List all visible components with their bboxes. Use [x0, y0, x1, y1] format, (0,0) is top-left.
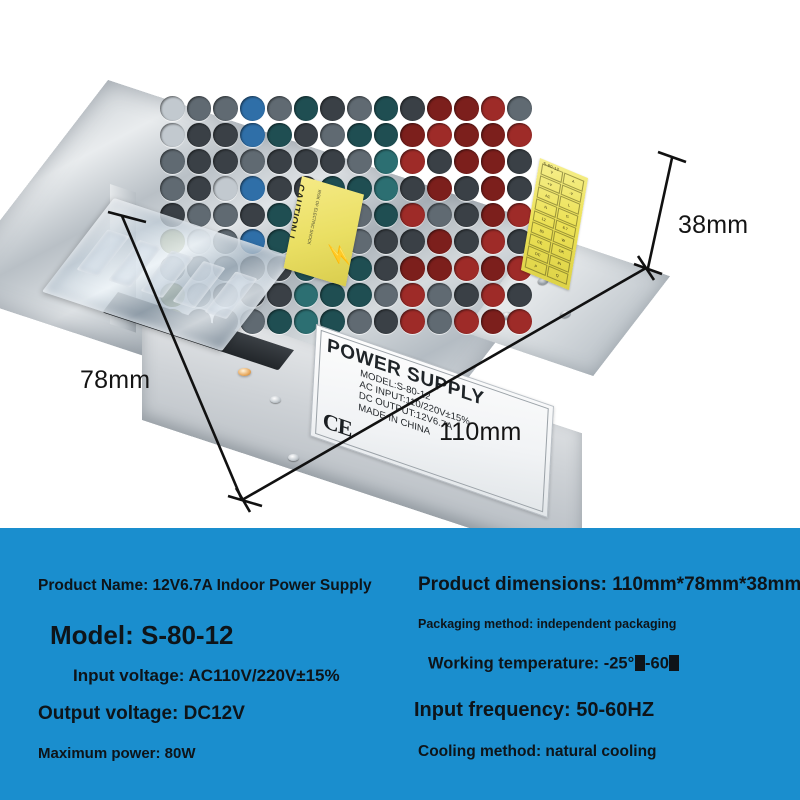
ventilation-hole [187, 123, 212, 148]
ventilation-hole [187, 149, 212, 174]
product-spec-image: POWER SUPPLY MODEL:S-80-12 AC INPUT:110/… [0, 0, 800, 800]
ventilation-hole [267, 309, 292, 334]
spec-packaging-method: Packaging method: independent packaging [418, 618, 676, 631]
ventilation-hole [481, 123, 506, 148]
ventilation-hole [427, 96, 452, 121]
ventilation-hole [320, 123, 345, 148]
caution-subtext: RISK OF ELECTRIC SHOCK [305, 189, 322, 246]
spec-cooling-method: Cooling method: natural cooling [418, 744, 657, 760]
ventilation-hole [400, 123, 425, 148]
product-photo: POWER SUPPLY MODEL:S-80-12 AC INPUT:110/… [0, 0, 800, 528]
ventilation-hole [427, 283, 452, 308]
led-indicator [238, 368, 251, 376]
ventilation-hole [294, 149, 319, 174]
specification-panel: Product Name: 12V6.7A Indoor Power Suppl… [0, 528, 800, 800]
ventilation-hole [187, 96, 212, 121]
ventilation-hole [507, 283, 532, 308]
lightning-bolt-icon: ⚡ [324, 238, 353, 271]
spec-model: Model: S-80-12 [50, 622, 234, 648]
ventilation-hole [320, 283, 345, 308]
ventilation-hole [400, 309, 425, 334]
ventilation-hole [240, 149, 265, 174]
ventilation-hole [267, 123, 292, 148]
ventilation-hole [481, 203, 506, 228]
spec-input-voltage: Input voltage: AC110V/220V±15% [73, 667, 340, 684]
missing-glyph-box [635, 655, 645, 671]
ventilation-hole [400, 176, 425, 201]
ventilation-hole [427, 309, 452, 334]
ventilation-hole [240, 96, 265, 121]
ventilation-hole [507, 149, 532, 174]
ventilation-hole [400, 203, 425, 228]
ventilation-hole [213, 203, 238, 228]
spec-maximum-power: Maximum power: 80W [38, 746, 196, 761]
ventilation-hole [347, 149, 372, 174]
ventilation-hole [213, 149, 238, 174]
ventilation-hole [160, 176, 185, 201]
ventilation-hole [213, 123, 238, 148]
ventilation-hole [374, 176, 399, 201]
spec-working-temperature: Working temperature: -25°-60 [428, 655, 680, 672]
ventilation-hole [374, 229, 399, 254]
ventilation-hole [374, 309, 399, 334]
ventilation-hole [347, 283, 372, 308]
spec-column-left: Product Name: 12V6.7A Indoor Power Suppl… [0, 528, 400, 800]
ventilation-hole [374, 256, 399, 281]
ventilation-hole [454, 203, 479, 228]
spec-working-temperature-prefix: Working temperature: -25° [428, 655, 634, 673]
ventilation-hole [454, 176, 479, 201]
ventilation-hole [374, 283, 399, 308]
ventilation-hole [454, 256, 479, 281]
spec-output-voltage: Output voltage: DC12V [38, 704, 245, 723]
spec-column-right: Product dimensions: 110mm*78mm*38mm Pack… [400, 528, 800, 800]
ventilation-hole [160, 123, 185, 148]
ventilation-hole [240, 123, 265, 148]
ventilation-hole [213, 96, 238, 121]
screw-icon [559, 309, 573, 319]
ventilation-hole [427, 203, 452, 228]
terminal-screw-row [76, 229, 257, 319]
power-supply-unit: POWER SUPPLY MODEL:S-80-12 AC INPUT:110/… [108, 80, 668, 500]
ventilation-hole [507, 176, 532, 201]
ventilation-hole [160, 96, 185, 121]
ventilation-hole [507, 96, 532, 121]
spec-product-dimensions: Product dimensions: 110mm*78mm*38mm [418, 575, 800, 594]
ventilation-hole [454, 149, 479, 174]
ventilation-hole [267, 176, 292, 201]
ventilation-hole [481, 96, 506, 121]
spec-input-frequency: Input frequency: 50-60HZ [414, 700, 654, 720]
ventilation-hole [213, 176, 238, 201]
ventilation-hole [320, 149, 345, 174]
ventilation-hole [374, 123, 399, 148]
ventilation-hole [187, 176, 212, 201]
ventilation-hole [267, 96, 292, 121]
ventilation-hole [267, 149, 292, 174]
spec-working-temperature-mid: -60 [645, 655, 669, 673]
ventilation-hole [481, 283, 506, 308]
ventilation-hole [347, 309, 372, 334]
ventilation-hole [294, 123, 319, 148]
ventilation-hole [427, 176, 452, 201]
ventilation-hole [400, 96, 425, 121]
ventilation-hole [427, 229, 452, 254]
ventilation-hole [481, 309, 506, 334]
dimension-label-depth: 38mm [678, 211, 748, 240]
ventilation-hole [160, 149, 185, 174]
missing-glyph-box [669, 655, 679, 671]
screw-icon [270, 396, 281, 403]
ventilation-hole [267, 203, 292, 228]
ventilation-hole [427, 256, 452, 281]
screw-icon [288, 454, 299, 461]
ventilation-hole [507, 309, 532, 334]
ventilation-hole [320, 96, 345, 121]
ventilation-hole [347, 96, 372, 121]
spec-product-name: Product Name: 12V6.7A Indoor Power Suppl… [38, 578, 372, 594]
ventilation-hole [294, 283, 319, 308]
ventilation-hole [400, 256, 425, 281]
ventilation-hole [294, 96, 319, 121]
ventilation-hole [374, 96, 399, 121]
ventilation-hole [400, 149, 425, 174]
ventilation-hole [481, 176, 506, 201]
ventilation-hole [400, 229, 425, 254]
ventilation-hole [454, 123, 479, 148]
ventilation-hole [481, 149, 506, 174]
ventilation-hole [481, 229, 506, 254]
ventilation-hole [454, 283, 479, 308]
ventilation-hole [294, 309, 319, 334]
ventilation-hole [507, 123, 532, 148]
ventilation-hole [347, 123, 372, 148]
ventilation-hole [400, 283, 425, 308]
ce-mark-icon: CE [322, 407, 352, 443]
ventilation-hole [454, 309, 479, 334]
ventilation-hole [427, 149, 452, 174]
ventilation-hole [427, 123, 452, 148]
ventilation-hole [454, 229, 479, 254]
ventilation-hole [240, 203, 265, 228]
ventilation-hole [374, 149, 399, 174]
ventilation-hole [374, 203, 399, 228]
ventilation-hole [240, 176, 265, 201]
ventilation-hole [481, 256, 506, 281]
ventilation-hole [454, 96, 479, 121]
